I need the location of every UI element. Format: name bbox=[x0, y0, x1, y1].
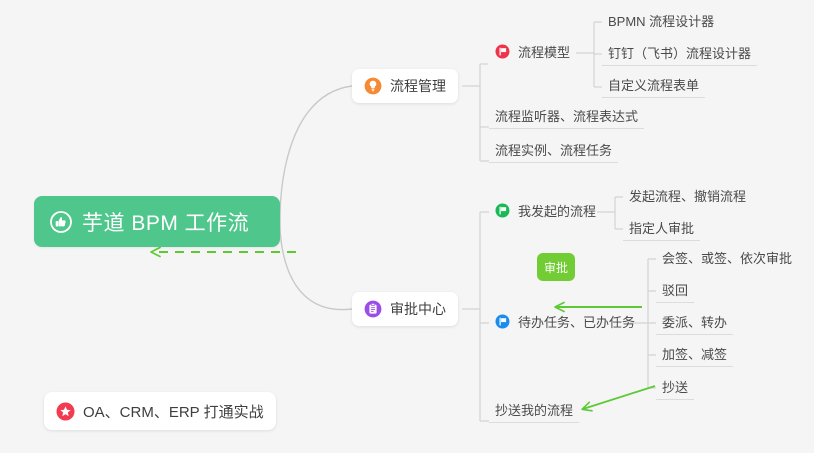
node-reject-label: 驳回 bbox=[662, 280, 688, 299]
node-cc-to-me-process-label: 抄送我的流程 bbox=[495, 400, 573, 419]
node-start-cancel-process[interactable]: 发起流程、撤销流程 bbox=[623, 185, 752, 209]
node-todo-done-tasks-label: 待办任务、已办任务 bbox=[518, 312, 635, 331]
node-dingtalk-feishu-designer-label: 钉钉（飞书）流程设计器 bbox=[608, 43, 751, 62]
root-label: 芋道 BPM 工作流 bbox=[82, 207, 249, 237]
node-countersign-orsign-sequential-label: 会签、或签、依次审批 bbox=[662, 248, 792, 267]
branch-process-management-label: 流程管理 bbox=[390, 76, 446, 96]
flag-circle-icon bbox=[495, 203, 510, 218]
footer-node-label: OA、CRM、ERP 打通实战 bbox=[83, 401, 264, 422]
node-process-listener-expression[interactable]: 流程监听器、流程表达式 bbox=[489, 105, 644, 129]
node-process-instance-task[interactable]: 流程实例、流程任务 bbox=[489, 139, 618, 163]
node-custom-process-form-label: 自定义流程表单 bbox=[608, 75, 699, 94]
wire-root-to-process-management bbox=[280, 86, 352, 221]
node-process-model-label: 流程模型 bbox=[518, 42, 570, 61]
footer-node-oa-crm-erp[interactable]: OA、CRM、ERP 打通实战 bbox=[44, 392, 276, 430]
annotation-arrow-cc-to-my-cc bbox=[583, 386, 655, 409]
node-delegate-transfer-label: 委派、转办 bbox=[662, 312, 727, 331]
node-custom-process-form[interactable]: 自定义流程表单 bbox=[602, 74, 705, 98]
node-add-remove-sign[interactable]: 加签、减签 bbox=[656, 343, 733, 367]
node-delegate-transfer[interactable]: 委派、转办 bbox=[656, 311, 733, 335]
node-bpmn-designer[interactable]: BPMN 流程设计器 bbox=[602, 10, 720, 34]
node-assignee-approval[interactable]: 指定人审批 bbox=[623, 217, 700, 241]
node-add-remove-sign-label: 加签、减签 bbox=[662, 344, 727, 363]
lightbulb-circle-icon bbox=[364, 77, 382, 95]
branch-process-management[interactable]: 流程管理 bbox=[352, 69, 458, 103]
node-countersign-orsign-sequential[interactable]: 会签、或签、依次审批 bbox=[656, 247, 798, 271]
node-cc-label: 抄送 bbox=[662, 377, 688, 396]
approval-badge[interactable]: 审批 bbox=[537, 253, 575, 281]
node-my-started-process-label: 我发起的流程 bbox=[518, 201, 596, 220]
node-process-model[interactable]: 流程模型 bbox=[489, 41, 576, 65]
node-cc[interactable]: 抄送 bbox=[656, 376, 694, 400]
node-cc-to-me-process[interactable]: 抄送我的流程 bbox=[489, 399, 579, 423]
node-process-listener-expression-label: 流程监听器、流程表达式 bbox=[495, 106, 638, 125]
node-start-cancel-process-label: 发起流程、撤销流程 bbox=[629, 186, 746, 205]
node-todo-done-tasks[interactable]: 待办任务、已办任务 bbox=[489, 311, 641, 335]
node-my-started-process[interactable]: 我发起的流程 bbox=[489, 200, 602, 224]
node-process-instance-task-label: 流程实例、流程任务 bbox=[495, 140, 612, 159]
root-node[interactable]: 芋道 BPM 工作流 bbox=[34, 196, 280, 247]
node-dingtalk-feishu-designer[interactable]: 钉钉（飞书）流程设计器 bbox=[602, 42, 757, 66]
clipboard-circle-icon bbox=[364, 300, 382, 318]
node-bpmn-designer-label: BPMN 流程设计器 bbox=[608, 11, 714, 30]
branch-approval-center-label: 审批中心 bbox=[390, 299, 446, 319]
mindmap-canvas: 芋道 BPM 工作流 流程管理 审批中心 bbox=[0, 0, 814, 453]
branch-approval-center[interactable]: 审批中心 bbox=[352, 292, 458, 326]
flag-circle-icon bbox=[495, 44, 510, 59]
wire-root-to-approval-center bbox=[280, 221, 352, 310]
flag-circle-icon bbox=[495, 314, 510, 329]
star-circle-icon bbox=[56, 402, 75, 421]
approval-badge-label: 审批 bbox=[544, 259, 568, 276]
node-assignee-approval-label: 指定人审批 bbox=[629, 218, 694, 237]
node-reject[interactable]: 驳回 bbox=[656, 279, 694, 303]
thumbs-up-circle-icon bbox=[50, 211, 72, 233]
